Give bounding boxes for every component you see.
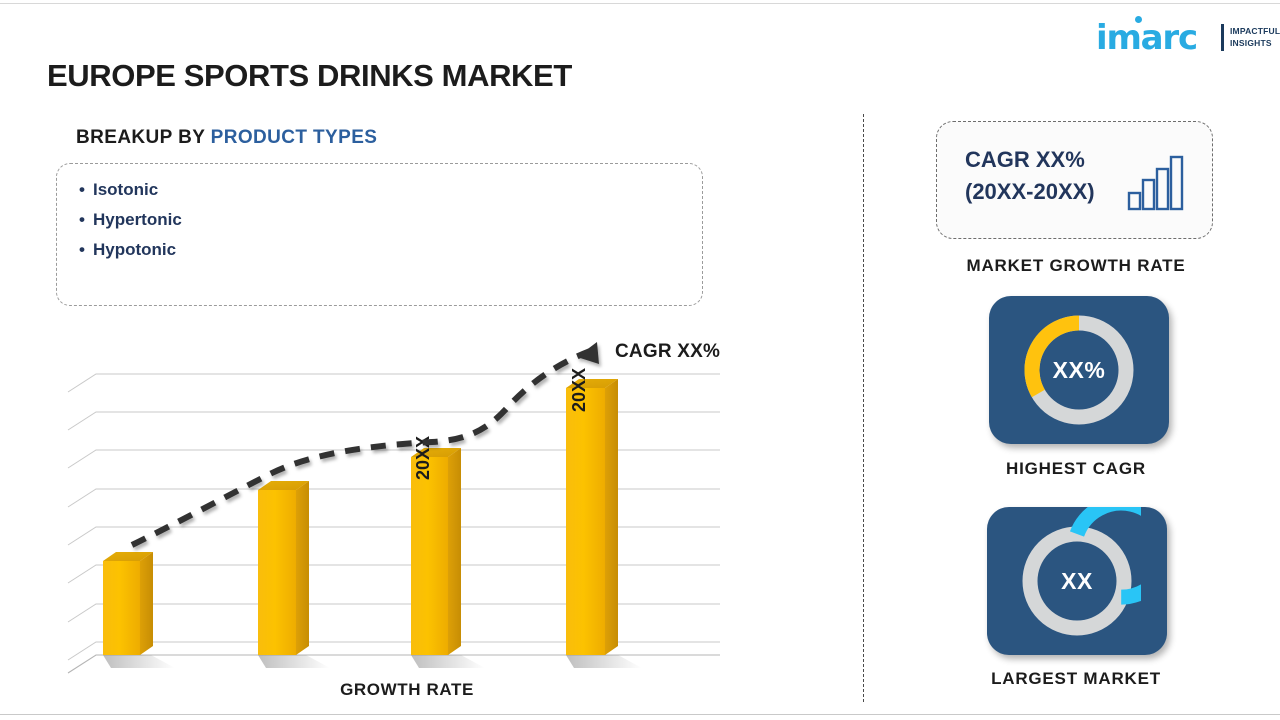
infographic-page: imarc IMPACTFUL INSIGHTS EUROPE SPORTS D… (0, 0, 1280, 720)
imarc-logo: imarc IMPACTFUL INSIGHTS (1093, 8, 1268, 56)
largest-market-caption: LARGEST MARKET (896, 669, 1256, 689)
cagr-text: CAGR XX% (20XX-20XX) (965, 144, 1095, 208)
bullet-icon: • (79, 205, 93, 235)
highest-cagr-caption: HIGHEST CAGR (896, 459, 1256, 479)
product-types-box: •Isotonic •Hypertonic •Hypotonic (56, 163, 703, 306)
chart-svg: 20XX 20XX (47, 330, 767, 680)
highest-cagr-value: XX% (989, 296, 1169, 444)
chart-gridlines (68, 374, 720, 660)
bar-3: 20XX (411, 436, 461, 655)
list-item-label: Hypertonic (93, 210, 182, 229)
top-divider-rule (0, 3, 1280, 4)
bullet-icon: • (79, 235, 93, 265)
logo-divider (1221, 24, 1224, 51)
list-item: •Hypertonic (79, 205, 182, 235)
bottom-divider-rule (0, 714, 1280, 715)
section-divider (863, 114, 864, 702)
market-growth-rate-card: CAGR XX% (20XX-20XX) (936, 121, 1213, 239)
logo-tagline-line2: INSIGHTS (1230, 38, 1272, 48)
logo-tagline: IMPACTFUL INSIGHTS (1230, 25, 1280, 49)
highest-cagr-tile: XX% (989, 296, 1169, 444)
market-growth-rate-caption: MARKET GROWTH RATE (896, 256, 1256, 276)
chart-x-axis-label: GROWTH RATE (47, 680, 767, 700)
bar-4: 20XX (566, 368, 618, 655)
cagr-trend-line (132, 342, 599, 545)
bullet-icon: • (79, 175, 93, 205)
bar-1 (103, 552, 153, 655)
chart-cagr-annotation: CAGR XX% (615, 341, 720, 363)
breakup-heading: BREAKUP BY PRODUCT TYPES (76, 127, 377, 149)
bar-shadows (103, 655, 642, 668)
page-title: EUROPE SPORTS DRINKS MARKET (47, 58, 572, 94)
largest-market-tile: XX (987, 507, 1167, 655)
logo-wordmark: imarc (1096, 18, 1197, 58)
cagr-period: (20XX-20XX) (965, 179, 1095, 204)
cagr-value: CAGR XX% (965, 147, 1085, 172)
bar-4-label: 20XX (569, 368, 589, 412)
list-item-label: Hypotonic (93, 240, 176, 259)
breakup-heading-prefix: BREAKUP BY (76, 127, 211, 148)
growth-rate-bar-chart: 20XX 20XX CAGR XX% GROWTH RATE (47, 330, 767, 710)
bar-2 (258, 481, 309, 655)
list-item-label: Isotonic (93, 180, 158, 199)
product-types-list: •Isotonic •Hypertonic •Hypotonic (79, 175, 182, 265)
logo-tagline-line1: IMPACTFUL (1230, 26, 1280, 36)
breakup-heading-accent: PRODUCT TYPES (211, 127, 378, 148)
list-item: •Isotonic (79, 175, 182, 205)
list-item: •Hypotonic (79, 235, 182, 265)
largest-market-value: XX (987, 507, 1167, 655)
bar-chart-icon (1127, 151, 1189, 213)
